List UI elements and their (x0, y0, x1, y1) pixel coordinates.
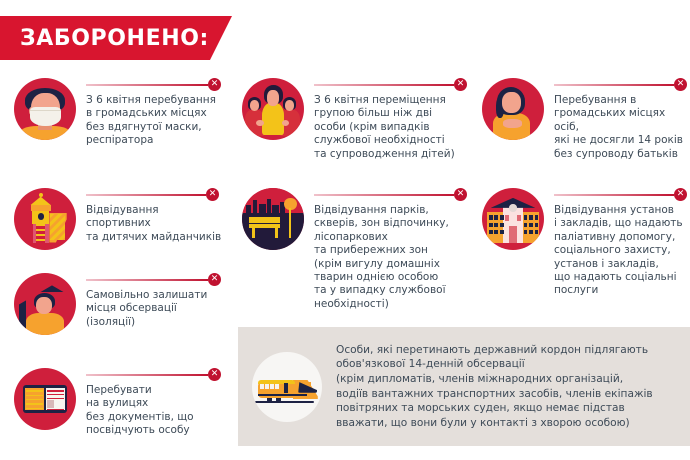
item-body: ✕ Перебування в громадських місцях осіб,… (554, 78, 688, 161)
item-text: З 6 квітня перебування в громадських міс… (86, 94, 226, 148)
prohibited-x-icon: ✕ (208, 368, 221, 381)
playground-icon (14, 188, 76, 250)
divider-with-marker: ✕ (314, 188, 466, 201)
item-body: ✕ Відвідування парків, скверів, зон відп… (314, 188, 466, 311)
divider-with-marker: ✕ (86, 188, 226, 201)
prohibited-x-icon: ✕ (206, 188, 219, 201)
divider-with-marker: ✕ (86, 368, 226, 381)
prohibition-item-parks: ✕ Відвідування парків, скверів, зон відп… (242, 188, 466, 311)
house-person-icon (14, 273, 76, 335)
prohibited-x-icon: ✕ (674, 188, 687, 201)
divider-line (86, 194, 206, 196)
prohibition-item-group-movement: ✕ З 6 квітня переміщення групою більш ні… (242, 78, 466, 161)
park-icon (242, 188, 304, 250)
item-text: Відвідування установ і закладів, що нада… (554, 204, 688, 298)
item-body: ✕ Відвідування спортивних та дитячих май… (86, 188, 226, 244)
divider-with-marker: ✕ (314, 78, 466, 91)
item-text: Самовільно залишати місця обсервації (із… (86, 289, 226, 329)
divider-with-marker: ✕ (86, 78, 226, 91)
divider-line (86, 84, 208, 86)
institution-building-icon (482, 188, 544, 250)
prohibited-x-icon: ✕ (208, 273, 221, 286)
prohibition-item-leaving-observation: ✕ Самовільно залишати місця обсервації (… (14, 273, 226, 335)
prohibited-x-icon: ✕ (454, 188, 467, 201)
divider-line (86, 374, 208, 376)
prohibited-x-icon: ✕ (208, 78, 221, 91)
item-body: ✕ Самовільно залишати місця обсервації (… (86, 273, 226, 329)
prohibition-item-institutions: ✕ Відвідування установ і закладів, що на… (482, 188, 688, 298)
divider-line (314, 84, 454, 86)
prohibition-item-playgrounds: ✕ Відвідування спортивних та дитячих май… (14, 188, 226, 250)
divider-line (554, 194, 674, 196)
item-text: Перебування в громадських місцях осіб, я… (554, 94, 688, 161)
prohibited-x-icon: ✕ (674, 78, 687, 91)
id-document-icon (14, 368, 76, 430)
item-body: ✕ З 6 квітня перебування в громадських м… (86, 78, 226, 148)
divider-line (314, 194, 454, 196)
divider-line (554, 84, 674, 86)
divider-line (86, 279, 208, 281)
page-header-banner: ЗАБОРОНЕНО: (0, 16, 232, 60)
page-title: ЗАБОРОНЕНО: (0, 26, 209, 51)
child-icon (482, 78, 544, 140)
item-text: Відвідування спортивних та дитячих майда… (86, 204, 226, 244)
item-body: ✕ З 6 квітня переміщення групою більш ні… (314, 78, 466, 161)
divider-with-marker: ✕ (554, 188, 688, 201)
prohibited-x-icon: ✕ (454, 78, 467, 91)
group-of-people-icon (242, 78, 304, 140)
item-body: ✕ Відвідування установ і закладів, що на… (554, 188, 688, 298)
masked-person-icon (14, 78, 76, 140)
item-text: Перебувати на вулицях без документів, що… (86, 384, 226, 438)
item-text: Відвідування парків, скверів, зон відпоч… (314, 204, 466, 311)
item-body: ✕ Перебувати на вулицях без документів, … (86, 368, 226, 438)
prohibition-item-no-documents: ✕ Перебувати на вулицях без документів, … (14, 368, 226, 438)
divider-with-marker: ✕ (86, 273, 226, 286)
border-crossing-note-text: Особи, які перетинають державний кордон … (336, 343, 665, 431)
border-crossing-note: Особи, які перетинають державний кордон … (238, 327, 690, 446)
divider-with-marker: ✕ (554, 78, 688, 91)
item-text: З 6 квітня переміщення групою більш ніж … (314, 94, 466, 161)
prohibition-item-minors: ✕ Перебування в громадських місцях осіб,… (482, 78, 688, 161)
prohibition-item-masked-person: ✕ З 6 квітня перебування в громадських м… (14, 78, 226, 148)
train-icon (252, 352, 322, 422)
